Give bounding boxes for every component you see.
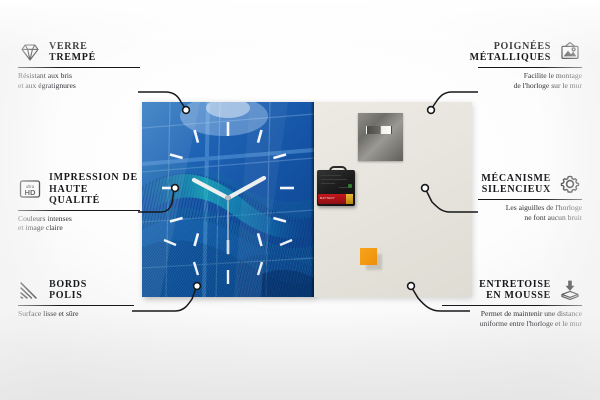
callout-rule bbox=[18, 67, 140, 68]
product-image: BATTERY bbox=[142, 102, 472, 297]
svg-text:HD: HD bbox=[25, 188, 36, 197]
callout-subtitle: Résistant aux bris et aux égratignures bbox=[18, 71, 140, 90]
diamond-icon bbox=[18, 40, 42, 64]
clock-front-panel bbox=[142, 102, 314, 297]
callout-impression-haute-qualite: ultra HD IMPRESSION DE HAUTE QUALITÉ Cou… bbox=[18, 172, 140, 233]
battery-cap bbox=[346, 194, 353, 204]
clock-back-panel: BATTERY bbox=[314, 102, 472, 297]
battery-label: BATTERY bbox=[320, 196, 335, 200]
callout-subtitle: Facilite le montage de l'horloge sur le … bbox=[478, 71, 582, 90]
callout-rule bbox=[18, 210, 140, 211]
hand-hub bbox=[225, 195, 230, 200]
foam-spacer bbox=[360, 248, 377, 265]
callout-bords-polis: BORDS POLIS Surface lisse et sûre bbox=[18, 278, 134, 319]
callout-head: VERRE TREMPÉ bbox=[18, 40, 140, 64]
callout-rule bbox=[442, 305, 582, 306]
callout-title: POIGNÉES MÉTALLIQUES bbox=[470, 41, 551, 64]
callout-rule bbox=[478, 199, 582, 200]
gear-icon bbox=[558, 172, 582, 196]
polished-edges-icon bbox=[18, 278, 42, 302]
callout-head: ultra HD IMPRESSION DE HAUTE QUALITÉ bbox=[18, 172, 140, 207]
battery: BATTERY bbox=[318, 194, 352, 204]
callout-verre-trempe: VERRE TREMPÉ Résistant aux bris et aux é… bbox=[18, 40, 140, 91]
callout-head: ENTRETOISE EN MOUSSE bbox=[442, 278, 582, 302]
metal-hanger-plate bbox=[358, 113, 403, 161]
hanger-slot bbox=[366, 126, 392, 134]
clock-face-artwork bbox=[142, 102, 314, 297]
callout-title: MÉCANISME SILENCIEUX bbox=[478, 173, 551, 196]
callout-head: BORDS POLIS bbox=[18, 278, 134, 302]
infographic-canvas: BATTERY bbox=[0, 0, 600, 400]
foam-spacer-arrow-icon bbox=[558, 278, 582, 302]
callout-rule bbox=[18, 305, 134, 306]
callout-rule bbox=[478, 67, 582, 68]
callout-title: IMPRESSION DE HAUTE QUALITÉ bbox=[49, 172, 140, 207]
callout-subtitle: Couleurs intenses et image claire bbox=[18, 214, 140, 233]
callout-title: BORDS POLIS bbox=[49, 279, 87, 302]
callout-subtitle: Surface lisse et sûre bbox=[18, 309, 134, 319]
ultra-hd-icon: ultra HD bbox=[18, 177, 42, 201]
callout-mecanisme-silencieux: MÉCANISME SILENCIEUX Les aiguilles de l'… bbox=[478, 172, 582, 223]
picture-frame-hanger-icon bbox=[558, 40, 582, 64]
clock-movement: BATTERY bbox=[317, 166, 355, 206]
callout-title: VERRE TREMPÉ bbox=[49, 41, 96, 64]
movement-body: BATTERY bbox=[317, 170, 355, 206]
callout-head: MÉCANISME SILENCIEUX bbox=[478, 172, 582, 196]
callout-subtitle: Les aiguilles de l'horloge ne font aucun… bbox=[478, 203, 582, 222]
callout-poignees-metalliques: POIGNÉES MÉTALLIQUES Facilite le montage… bbox=[478, 40, 582, 91]
callout-entretoise-en-mousse: ENTRETOISE EN MOUSSE Permet de maintenir… bbox=[442, 278, 582, 329]
callout-head: POIGNÉES MÉTALLIQUES bbox=[478, 40, 582, 64]
callout-subtitle: Permet de maintenir une distance uniform… bbox=[442, 309, 582, 328]
callout-title: ENTRETOISE EN MOUSSE bbox=[442, 279, 551, 302]
